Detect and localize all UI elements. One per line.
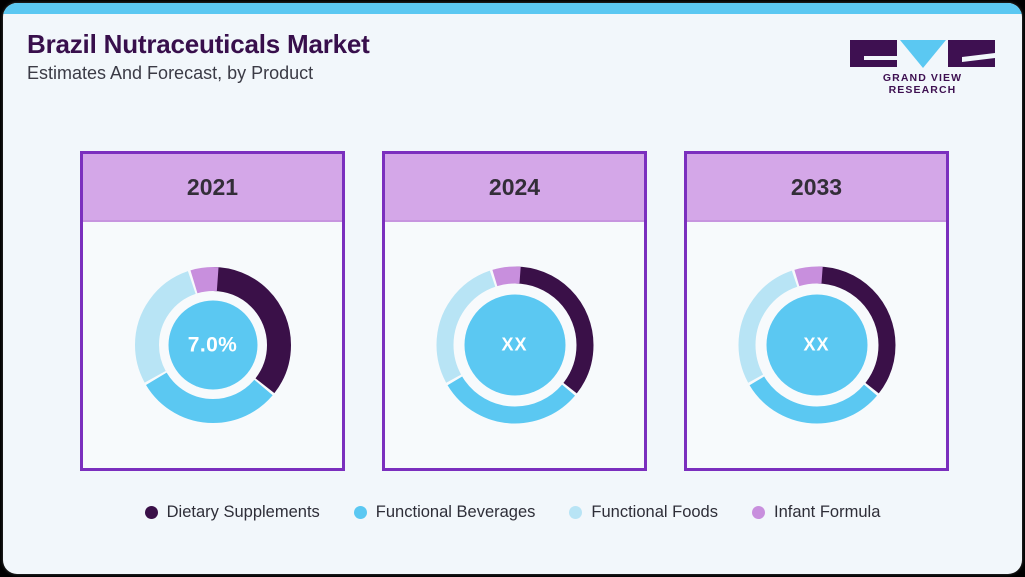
legend-label: Functional Beverages (376, 503, 536, 522)
legend-label: Dietary Supplements (167, 503, 320, 522)
donut-center-label: XX (803, 335, 829, 356)
logo-v-triangle-icon (900, 40, 946, 68)
panel-year-label: 2024 (489, 174, 540, 201)
donut-chart-2033: XX (734, 262, 900, 428)
legend-label: Functional Foods (591, 503, 718, 522)
legend-item-functional-foods: Functional Foods (569, 503, 718, 522)
legend: Dietary Supplements Functional Beverages… (3, 503, 1022, 522)
legend-dot-icon (354, 506, 367, 519)
legend-dot-icon (569, 506, 582, 519)
legend-dot-icon (145, 506, 158, 519)
panel-header-2033: 2033 (687, 154, 946, 222)
donut-center-2033: XX (766, 295, 867, 396)
panel-header-2024: 2024 (385, 154, 644, 222)
legend-item-functional-beverages: Functional Beverages (354, 503, 536, 522)
panel-body-2021: 7.0% (83, 222, 342, 468)
panel-2033: 2033 XX (684, 151, 949, 471)
donut-center-label: XX (501, 335, 527, 356)
donut-center-label: 7.0% (188, 333, 237, 357)
page-subtitle: Estimates And Forecast, by Product (27, 63, 313, 84)
page-title: Brazil Nutraceuticals Market (27, 29, 370, 60)
panel-year-label: 2021 (187, 174, 238, 201)
logo-g-block (850, 40, 897, 67)
panel-2021: 2021 7.0% (80, 151, 345, 471)
grand-view-research-logo: GRAND VIEW RESEARCH (850, 36, 995, 91)
legend-item-infant-formula: Infant Formula (752, 503, 880, 522)
logo-g-slot (864, 56, 897, 60)
legend-label: Infant Formula (774, 503, 880, 522)
panel-year-label: 2033 (791, 174, 842, 201)
panel-body-2024: XX (385, 222, 644, 468)
donut-chart-2021: 7.0% (130, 262, 296, 428)
panel-body-2033: XX (687, 222, 946, 468)
panel-group: 2021 7.0% 2024 (3, 148, 1022, 473)
panel-header-2021: 2021 (83, 154, 342, 222)
donut-chart-2024: XX (432, 262, 598, 428)
top-accent-bar (3, 3, 1022, 14)
panel-2024: 2024 XX (382, 151, 647, 471)
header: Brazil Nutraceuticals Market Estimates A… (3, 14, 1022, 106)
donut-center-2021: 7.0% (168, 301, 257, 390)
logo-marks (850, 36, 995, 70)
legend-dot-icon (752, 506, 765, 519)
donut-center-2024: XX (464, 295, 565, 396)
infographic-card: Brazil Nutraceuticals Market Estimates A… (3, 3, 1022, 574)
logo-wordmark: GRAND VIEW RESEARCH (850, 72, 995, 96)
legend-item-dietary-supplements: Dietary Supplements (145, 503, 320, 522)
